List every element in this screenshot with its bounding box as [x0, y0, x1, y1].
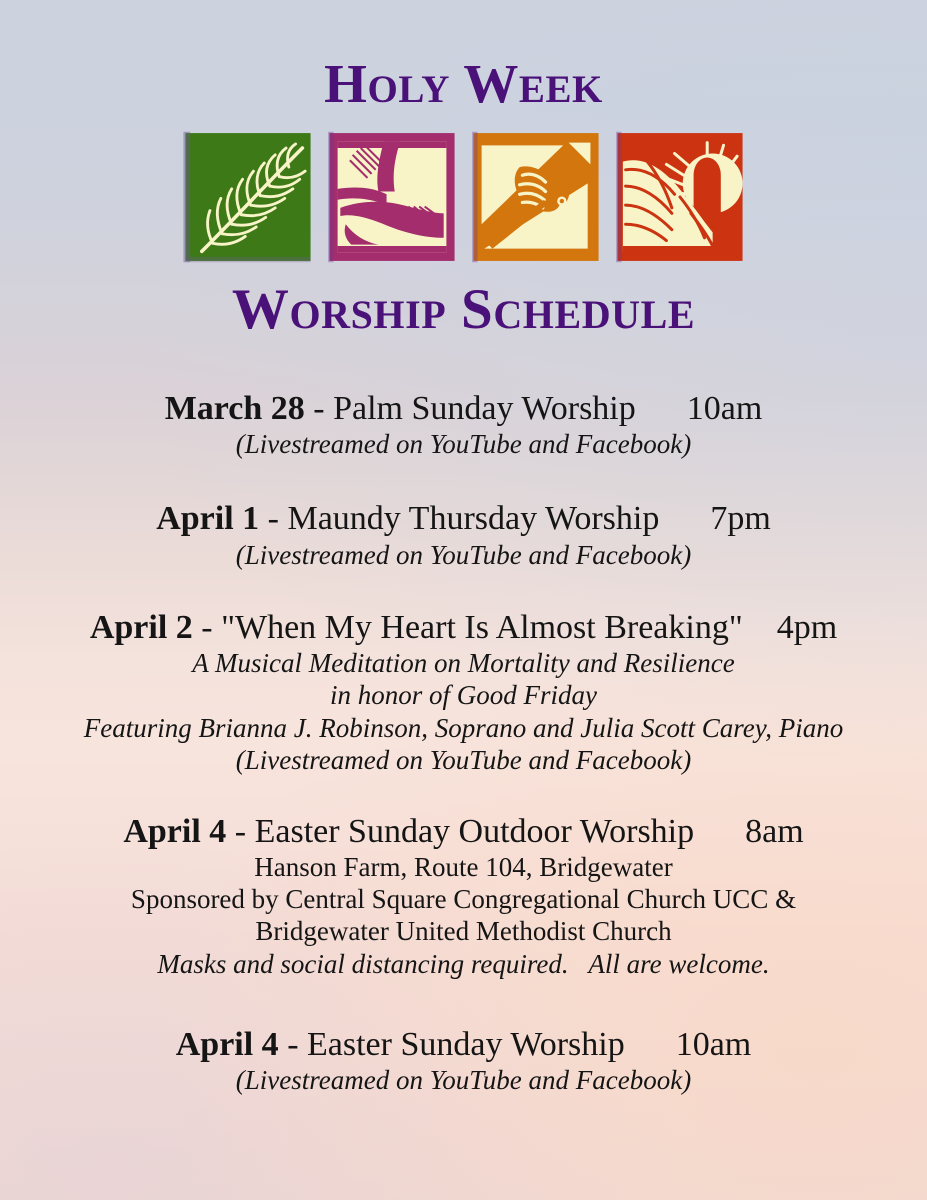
- entry-main-line: April 2 - "When My Heart Is Almost Break…: [0, 609, 927, 647]
- page-title-worship-schedule: Worship Schedule: [0, 265, 927, 338]
- poster-footer: Central Square Congregational Church UCC…: [0, 1137, 927, 1200]
- schedule-entry-easter-outdoor: April 4 - Easter Sunday Outdoor Worship …: [0, 813, 927, 981]
- entry-sub-good-friday: in honor of Good Friday: [0, 679, 927, 711]
- entry-sub-livestream: (Livestreamed on YouTube and Facebook): [0, 744, 927, 776]
- entry-event-time: - "When My Heart Is Almost Breaking" 4pm: [193, 609, 837, 646]
- schedule-entry-good-friday-concert: April 2 - "When My Heart Is Almost Break…: [0, 609, 927, 777]
- entry-date: April 4: [123, 813, 226, 850]
- entry-sub-performers: Featuring Brianna J. Robinson, Soprano a…: [0, 712, 927, 744]
- entry-date: March 28: [165, 390, 305, 427]
- entry-main-line: April 4 - Easter Sunday Outdoor Worship …: [0, 813, 927, 851]
- entry-date: April 4: [176, 1026, 279, 1063]
- resurrection-icon: [612, 129, 748, 265]
- entry-event-time: - Maundy Thursday Worship 7pm: [259, 500, 771, 537]
- entry-date: April 2: [90, 609, 193, 646]
- foot-washing-icon: [324, 129, 460, 265]
- worship-schedule-list: March 28 - Palm Sunday Worship 10am (Liv…: [0, 390, 927, 1097]
- entry-sub-livestream: (Livestreamed on YouTube and Facebook): [0, 539, 927, 571]
- entry-main-line: March 28 - Palm Sunday Worship 10am: [0, 390, 927, 428]
- palm-branch-icon: [180, 129, 316, 265]
- crucifixion-hand-icon: [468, 129, 604, 265]
- spacer: [0, 990, 927, 1026]
- entry-main-line: April 4 - Easter Sunday Worship 10am: [0, 1026, 927, 1064]
- entry-event-time: - Easter Sunday Worship 10am: [279, 1026, 752, 1063]
- spacer: [0, 787, 927, 813]
- spacer: [0, 581, 927, 609]
- entry-sub-livestream: (Livestreamed on YouTube and Facebook): [0, 1064, 927, 1096]
- entry-sub-covid-notice: Masks and social distancing required. Al…: [0, 948, 927, 980]
- entry-main-line: April 1 - Maundy Thursday Worship 7pm: [0, 500, 927, 538]
- entry-event-time: - Palm Sunday Worship 10am: [305, 390, 763, 427]
- schedule-entry-palm-sunday: March 28 - Palm Sunday Worship 10am (Liv…: [0, 390, 927, 460]
- entry-sub-location: Hanson Farm, Route 104, Bridgewater: [0, 851, 927, 883]
- holy-week-icon-strip: [0, 129, 927, 265]
- entry-event-time: - Easter Sunday Outdoor Worship 8am: [226, 813, 803, 850]
- entry-date: April 1: [156, 500, 259, 537]
- schedule-entry-maundy-thursday: April 1 - Maundy Thursday Worship 7pm (L…: [0, 500, 927, 570]
- page-title-holy-week: Holy Week: [0, 0, 927, 111]
- entry-sub-sponsor-2: Bridgewater United Methodist Church: [0, 915, 927, 947]
- holy-week-poster: Holy Week: [0, 0, 927, 1200]
- entry-sub-sponsor-1: Sponsored by Central Square Congregation…: [0, 883, 927, 915]
- spacer: [0, 470, 927, 500]
- schedule-entry-easter-worship: April 4 - Easter Sunday Worship 10am (Li…: [0, 1026, 927, 1096]
- entry-sub-livestream: (Livestreamed on YouTube and Facebook): [0, 428, 927, 460]
- entry-sub-meditation: A Musical Meditation on Mortality and Re…: [0, 647, 927, 679]
